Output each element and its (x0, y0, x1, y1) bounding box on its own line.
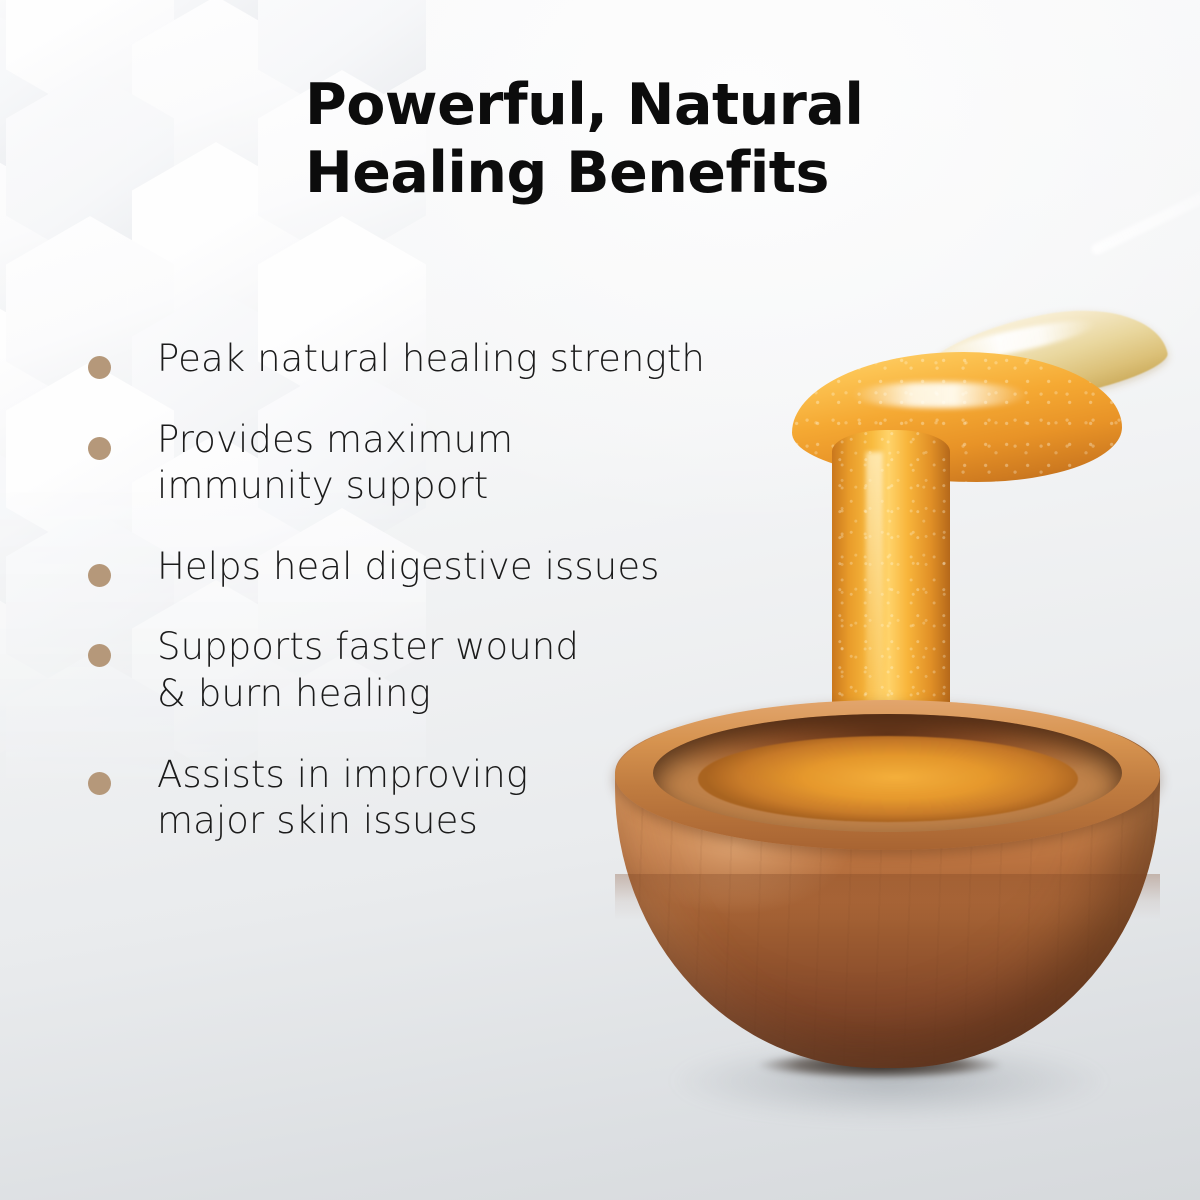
hexagon-tile (132, 0, 300, 44)
hexagon-tile (132, 0, 300, 190)
hexagon-tile (6, 70, 174, 264)
headline-line-1: Powerful, Natural (305, 72, 1005, 140)
bullet-dot-icon (88, 356, 111, 379)
bullet-dot-icon (88, 564, 111, 587)
hexagon-tile (0, 142, 48, 336)
hexagon-tile (0, 0, 48, 190)
benefit-item: Helps heal digestive issues (86, 544, 726, 591)
benefit-item: Provides maximum immunity support (86, 417, 726, 510)
bullet-dot-icon (88, 644, 111, 667)
benefit-text: Assists in improving major skin issues (157, 752, 726, 845)
hexagon-tile (0, 0, 48, 44)
bowl-tone-band (615, 874, 1160, 921)
benefit-item: Assists in improving major skin issues (86, 752, 726, 845)
benefit-line: & burn healing (157, 671, 726, 718)
honey-pool (698, 736, 1078, 822)
benefit-line: Peak natural healing strength (157, 336, 726, 383)
benefit-text: Peak natural healing strength (157, 336, 726, 383)
benefit-text: Supports faster wound & burn healing (157, 624, 726, 717)
hexagon-tile (0, 580, 48, 774)
page-title: Powerful, Natural Healing Benefits (305, 72, 1005, 208)
hexagon-tile (132, 142, 300, 336)
benefit-text: Helps heal digestive issues (157, 544, 726, 591)
benefit-line: Assists in improving (157, 752, 726, 799)
benefit-item: Peak natural healing strength (86, 336, 726, 383)
hexagon-tile (0, 434, 48, 628)
hexagon-tile (0, 288, 48, 482)
benefit-line: immunity support (157, 463, 726, 510)
promo-banner: Powerful, Natural Healing Benefits Peak … (0, 0, 1200, 1200)
benefit-text: Provides maximum immunity support (157, 417, 726, 510)
benefit-line: Supports faster wound (157, 624, 726, 671)
benefit-item: Supports faster wound & burn healing (86, 624, 726, 717)
benefit-line: major skin issues (157, 798, 726, 845)
bullet-dot-icon (88, 772, 111, 795)
headline-line-2: Healing Benefits (305, 140, 1005, 208)
spoon-handle-icon (1068, 157, 1200, 280)
honey-blob-highlight (852, 382, 1028, 408)
benefits-list: Peak natural healing strength Provides m… (86, 336, 726, 879)
benefit-line: Helps heal digestive issues (157, 544, 726, 591)
hexagon-tile (6, 0, 174, 118)
bullet-dot-icon (88, 437, 111, 460)
benefit-line: Provides maximum (157, 417, 726, 464)
